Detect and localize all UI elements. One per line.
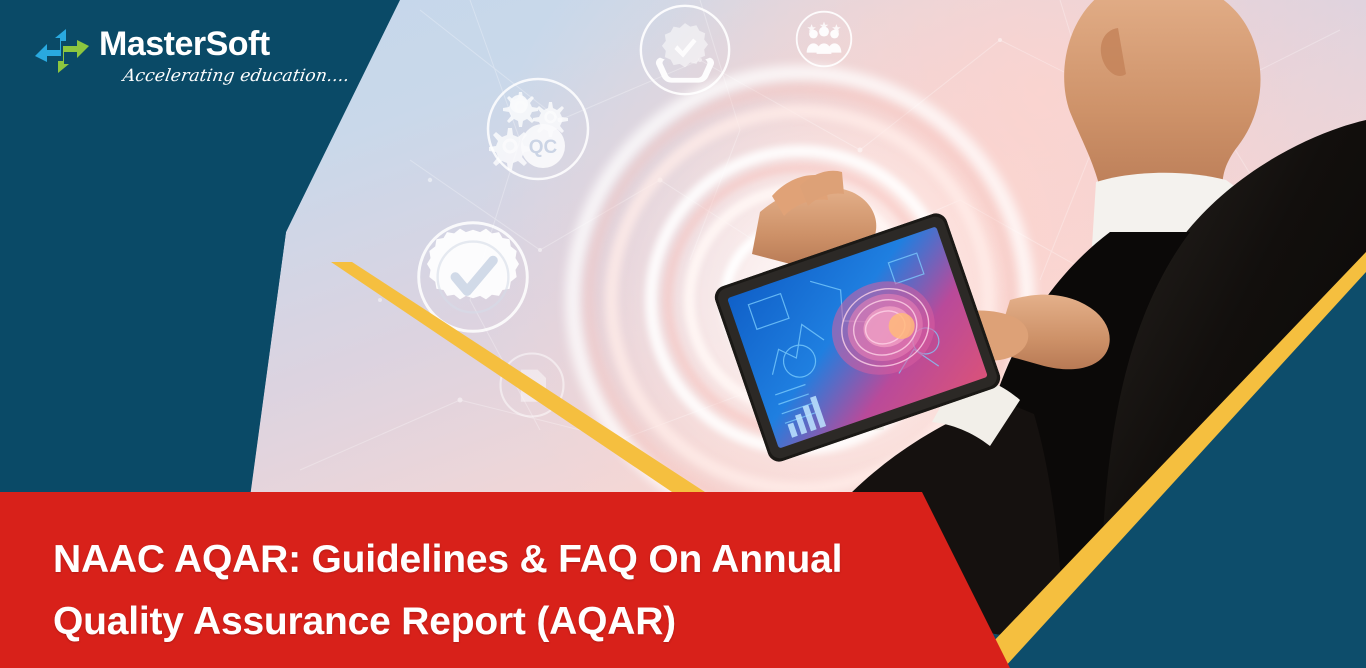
naac-aqar-hero-banner: QC bbox=[0, 0, 1366, 668]
mastersoft-logo[interactable]: MasterSoft Accelerating education.... bbox=[33, 22, 323, 92]
page-title-line-1: NAAC AQAR: Guidelines & FAQ On Annual bbox=[53, 529, 893, 591]
brand-tagline: Accelerating education.... bbox=[121, 66, 351, 86]
page-title: NAAC AQAR: Guidelines & FAQ On Annual Qu… bbox=[53, 529, 893, 653]
brand-name: MasterSoft bbox=[99, 22, 270, 66]
pinwheel-arrows-logo-mark bbox=[33, 26, 91, 76]
page-title-line-2: Quality Assurance Report (AQAR) bbox=[53, 591, 893, 653]
